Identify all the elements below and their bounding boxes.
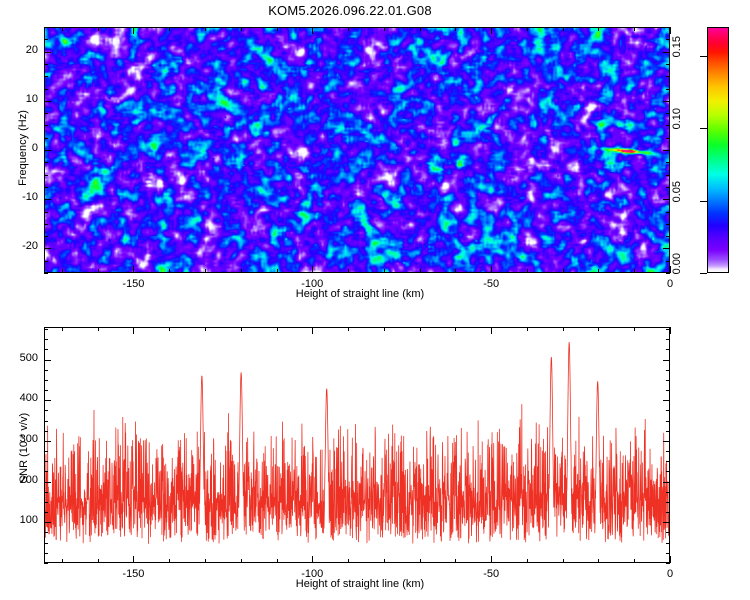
- spectrogram-xtick-minor: [62, 269, 63, 273]
- spectrogram-ytick-minor: [44, 224, 48, 225]
- spectrogram-ytick-minor-right: [666, 113, 670, 114]
- spectrogram-xtick-minor-top: [527, 27, 528, 31]
- snr-ytick-minor: [44, 441, 48, 442]
- spectrogram-ytick-minor: [44, 76, 48, 77]
- spectrogram-xtick-minor: [598, 269, 599, 273]
- snr-ytick-minor: [44, 339, 48, 340]
- spectrogram-ytick-minor-right: [666, 175, 670, 176]
- spectrogram-xtick-minor-top: [205, 27, 206, 31]
- spectrogram-xtick-minor: [420, 269, 421, 273]
- spectrogram-xtick-minor: [312, 269, 313, 273]
- snr-ylabel: SNR (10 * v/v): [18, 398, 30, 498]
- colorbar-tick: [700, 201, 707, 202]
- snr-ytick-minor: [44, 400, 48, 401]
- spectrogram-ylabel: Frequency (Hz): [17, 103, 29, 193]
- snr-xtick-minor-top: [455, 327, 456, 331]
- spectrogram-ytick-minor-right: [666, 162, 670, 163]
- spectrogram-xtick-minor-top: [384, 27, 385, 31]
- snr-xtick-minor-top: [241, 327, 242, 331]
- snr-ytick-minor-right: [666, 553, 670, 554]
- snr-xtick-minor-top: [634, 327, 635, 331]
- snr-xtick-minor: [241, 559, 242, 563]
- snr-xtick-minor: [312, 559, 313, 563]
- snr-ytick-minor: [44, 482, 48, 483]
- snr-ytick-minor-right: [666, 471, 670, 472]
- snr-trace: [45, 328, 669, 562]
- snr-xtick-minor-top: [348, 327, 349, 331]
- spectrogram-ytick-minor-right: [666, 125, 670, 126]
- snr-ytick-minor-right: [666, 461, 670, 462]
- snr-ytick-minor-right: [666, 421, 670, 422]
- snr-ytick-minor-right: [666, 431, 670, 432]
- colorbar-tick-label: 0.00: [671, 253, 683, 287]
- spectrogram-ytick-minor-right: [666, 64, 670, 65]
- spectrogram-xtick-minor-top: [241, 27, 242, 31]
- snr-xtick-minor: [670, 559, 671, 563]
- snr-xtick-minor: [491, 559, 492, 563]
- snr-xtick-minor: [348, 559, 349, 563]
- colorbar-tick-label: 0.10: [671, 108, 683, 142]
- snr-xtick-minor: [98, 559, 99, 563]
- snr-ytick-minor-right: [666, 400, 670, 401]
- snr-xtick-label: -150: [103, 568, 163, 580]
- snr-xtick-minor-top: [62, 327, 63, 331]
- snr-ytick-minor: [44, 451, 48, 452]
- spectrogram-xtick-minor-top: [62, 27, 63, 31]
- snr-ytick-minor: [44, 502, 48, 503]
- snr-ytick-minor-right: [666, 451, 670, 452]
- spectrogram-xtick-label: -150: [103, 278, 163, 290]
- spectrogram-ytick-minor: [44, 187, 48, 188]
- spectrogram-ytick-minor-right: [666, 187, 670, 188]
- spectrogram-ytick-minor-right: [666, 150, 670, 151]
- snr-xtick-minor-top: [169, 327, 170, 331]
- spectrogram-ytick-minor-right: [666, 101, 670, 102]
- snr-ytick-minor: [44, 390, 48, 391]
- spectrogram-ytick-minor-right: [666, 224, 670, 225]
- snr-xtick-minor: [634, 559, 635, 563]
- snr-ytick-minor-right: [666, 563, 670, 564]
- snr-ytick-minor-right: [666, 370, 670, 371]
- snr-ytick-minor-right: [666, 410, 670, 411]
- spectrogram-ytick-minor: [44, 261, 48, 262]
- spectrogram-xtick-minor-top: [455, 27, 456, 31]
- spectrogram-xtick-minor-top: [98, 27, 99, 31]
- colorbar-tick: [700, 273, 707, 274]
- snr-xtick-minor: [205, 559, 206, 563]
- spectrogram-ytick-minor: [44, 212, 48, 213]
- spectrogram-ytick-label: 20: [0, 44, 38, 56]
- spectrogram-xtick-minor-top: [598, 27, 599, 31]
- snr-xtick-minor: [133, 559, 134, 563]
- spectrogram-ytick-minor: [44, 125, 48, 126]
- spectrogram-xtick-minor-top: [491, 27, 492, 31]
- spectrogram-ytick-minor: [44, 27, 48, 28]
- snr-xtick-minor-top: [670, 327, 671, 331]
- snr-ytick-minor: [44, 410, 48, 411]
- spectrogram-ytick-minor-right: [666, 199, 670, 200]
- spectrogram-xtick-minor-top: [277, 27, 278, 31]
- snr-xtick-minor: [169, 559, 170, 563]
- snr-xlabel: Height of straight line (km): [240, 578, 480, 590]
- snr-ytick-minor-right: [666, 349, 670, 350]
- spectrogram-xtick-minor: [277, 269, 278, 273]
- snr-ytick-minor: [44, 512, 48, 513]
- snr-ytick-minor: [44, 461, 48, 462]
- snr-xtick-minor-top: [420, 327, 421, 331]
- snr-ytick-minor-right: [666, 502, 670, 503]
- snr-ytick-minor-right: [666, 390, 670, 391]
- snr-xtick-minor: [420, 559, 421, 563]
- spectrogram-ytick-minor-right: [666, 76, 670, 77]
- spectrogram-xtick-minor-top: [133, 27, 134, 31]
- spectrogram-ytick-minor: [44, 199, 48, 200]
- spectrogram-xtick-minor-top: [670, 27, 671, 31]
- spectrogram-xtick-minor: [527, 269, 528, 273]
- snr-ytick-minor-right: [666, 532, 670, 533]
- spectrogram-ytick-minor: [44, 175, 48, 176]
- snr-ytick-minor: [44, 553, 48, 554]
- snr-xtick-minor-top: [98, 327, 99, 331]
- snr-ytick-minor: [44, 543, 48, 544]
- snr-xtick-minor-top: [598, 327, 599, 331]
- spectrogram-ytick-minor-right: [666, 138, 670, 139]
- spectrogram-ytick-minor: [44, 64, 48, 65]
- spectrogram-ytick-minor-right: [666, 261, 670, 262]
- colorbar[interactable]: [707, 27, 729, 273]
- spectrogram-ytick-label: -20: [0, 240, 38, 252]
- snr-ytick-minor: [44, 471, 48, 472]
- snr-xtick-minor-top: [312, 327, 313, 331]
- snr-ytick-minor: [44, 329, 48, 330]
- snr-xtick-minor-top: [133, 327, 134, 331]
- spectrogram-ytick-minor: [44, 236, 48, 237]
- spectrogram-xtick-minor: [384, 269, 385, 273]
- spectrogram-ytick-minor-right: [666, 273, 670, 274]
- spectrogram-xtick-label: 0: [640, 278, 700, 290]
- spectrogram-ytick-minor-right: [666, 39, 670, 40]
- spectrogram-xtick-minor: [348, 269, 349, 273]
- colorbar-tick: [700, 128, 707, 129]
- spectrogram-xtick-minor: [563, 269, 564, 273]
- snr-xtick-minor-top: [527, 327, 528, 331]
- snr-ytick-minor-right: [666, 522, 670, 523]
- snr-xtick-minor: [277, 559, 278, 563]
- spectrogram-ytick-minor-right: [666, 212, 670, 213]
- snr-ytick-minor-right: [666, 512, 670, 513]
- spectrogram-ytick-minor-right: [666, 236, 670, 237]
- spectrogram-image: [45, 28, 669, 272]
- spectrogram-xtick-minor-top: [348, 27, 349, 31]
- snr-line: [45, 342, 669, 544]
- figure-root: KOM5.2026.096.22.01.G08 -20-1001020 -150…: [0, 0, 750, 600]
- snr-xtick-minor-top: [277, 327, 278, 331]
- spectrogram-xlabel: Height of straight line (km): [240, 288, 480, 300]
- snr-ytick-minor-right: [666, 543, 670, 544]
- spectrogram-ytick-minor: [44, 273, 48, 274]
- spectrogram-xtick-minor-top: [312, 27, 313, 31]
- spectrogram-xtick-minor: [169, 269, 170, 273]
- spectrogram-xtick-minor-top: [420, 27, 421, 31]
- spectrogram-xtick-minor: [98, 269, 99, 273]
- spectrogram-ytick-minor: [44, 113, 48, 114]
- spectrogram-xtick-minor: [455, 269, 456, 273]
- snr-ytick-minor: [44, 492, 48, 493]
- snr-xtick-minor-top: [563, 327, 564, 331]
- spectrogram-ytick-minor-right: [666, 248, 670, 249]
- spectrogram-ytick-minor-right: [666, 52, 670, 53]
- snr-xtick-minor: [455, 559, 456, 563]
- snr-panel[interactable]: [44, 327, 670, 563]
- snr-xtick-minor-top: [384, 327, 385, 331]
- spectrogram-xtick-minor: [634, 269, 635, 273]
- snr-xtick-minor: [598, 559, 599, 563]
- spectrogram-xtick-minor: [205, 269, 206, 273]
- spectrogram-ytick-minor: [44, 101, 48, 102]
- snr-ytick-minor: [44, 370, 48, 371]
- snr-ytick-label: 100: [0, 514, 38, 526]
- spectrogram-xtick-minor-top: [563, 27, 564, 31]
- snr-ytick-minor-right: [666, 492, 670, 493]
- snr-ytick-minor: [44, 349, 48, 350]
- spectrogram-xtick-minor: [491, 269, 492, 273]
- spectrogram-xtick-minor-top: [169, 27, 170, 31]
- snr-xtick-minor: [563, 559, 564, 563]
- page-title: KOM5.2026.096.22.01.G08: [0, 3, 700, 18]
- snr-ytick-minor-right: [666, 380, 670, 381]
- snr-xtick-minor: [527, 559, 528, 563]
- spectrogram-ytick-minor: [44, 162, 48, 163]
- colorbar-tick-label: 0.15: [671, 36, 683, 70]
- snr-ytick-minor-right: [666, 339, 670, 340]
- snr-ytick-minor: [44, 421, 48, 422]
- snr-ytick-minor-right: [666, 482, 670, 483]
- snr-ytick-minor-right: [666, 441, 670, 442]
- spectrogram-ytick-minor: [44, 138, 48, 139]
- snr-ytick-minor: [44, 380, 48, 381]
- snr-xtick-minor: [384, 559, 385, 563]
- colorbar-tick-label: 0.05: [671, 181, 683, 215]
- snr-ytick-minor: [44, 563, 48, 564]
- snr-ytick-minor-right: [666, 360, 670, 361]
- spectrogram-panel[interactable]: [44, 27, 670, 273]
- spectrogram-ytick-minor: [44, 39, 48, 40]
- snr-xtick-minor-top: [491, 327, 492, 331]
- spectrogram-xtick-minor: [133, 269, 134, 273]
- spectrogram-ytick-minor: [44, 52, 48, 53]
- snr-ytick-minor: [44, 532, 48, 533]
- spectrogram-xtick-minor-top: [634, 27, 635, 31]
- spectrogram-ytick-minor: [44, 248, 48, 249]
- snr-ytick-minor: [44, 522, 48, 523]
- snr-ytick-minor: [44, 360, 48, 361]
- snr-xtick-minor-top: [205, 327, 206, 331]
- spectrogram-ytick-minor: [44, 89, 48, 90]
- spectrogram-ytick-minor: [44, 150, 48, 151]
- snr-xtick-minor: [62, 559, 63, 563]
- snr-ytick-minor: [44, 431, 48, 432]
- snr-ytick-label: 500: [0, 352, 38, 364]
- spectrogram-xtick-minor: [241, 269, 242, 273]
- snr-xtick-label: 0: [640, 568, 700, 580]
- colorbar-tick: [700, 56, 707, 57]
- spectrogram-ytick-minor-right: [666, 89, 670, 90]
